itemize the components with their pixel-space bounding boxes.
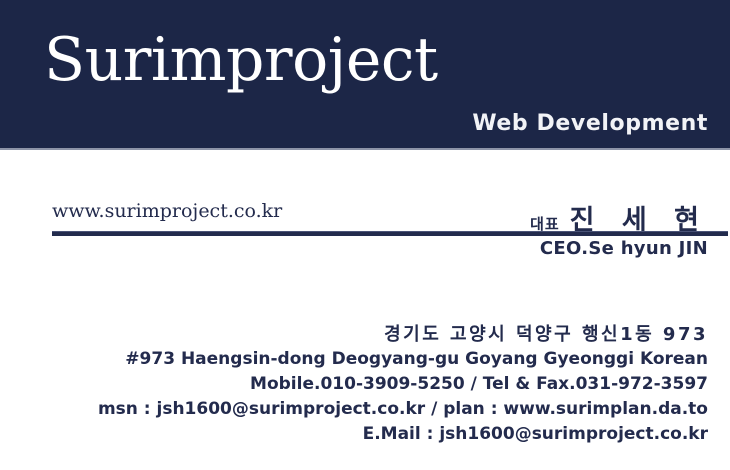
company-tagline: Web Development	[472, 113, 708, 135]
company-logo-wordmark: Surimproject	[44, 30, 438, 90]
identity-row: www.surimproject.co.kr 대표 진 세 현	[0, 198, 730, 232]
contact-line-email: E.Mail : jsh1600@surimproject.co.kr	[98, 422, 708, 447]
horizontal-divider	[52, 231, 728, 236]
header-band: Surimproject Web Development	[0, 0, 730, 150]
contact-block: 경기도 고양시 덕양구 행신1동 973 #973 Haengsin-dong …	[98, 322, 708, 447]
contact-line-address-roman: #973 Haengsin-dong Deogyang-gu Goyang Gy…	[98, 347, 708, 372]
contact-line-msn-plan: msn : jsh1600@surimproject.co.kr / plan …	[98, 397, 708, 422]
person-name-roman: CEO.Se hyun JIN	[540, 240, 708, 258]
business-card: Surimproject Web Development www.surimpr…	[0, 0, 730, 470]
website-url[interactable]: www.surimproject.co.kr	[52, 202, 282, 221]
contact-line-phone: Mobile.010-3909-5250 / Tel & Fax.031-972…	[98, 372, 708, 397]
contact-line-address-korean: 경기도 고양시 덕양구 행신1동 973	[98, 322, 708, 347]
